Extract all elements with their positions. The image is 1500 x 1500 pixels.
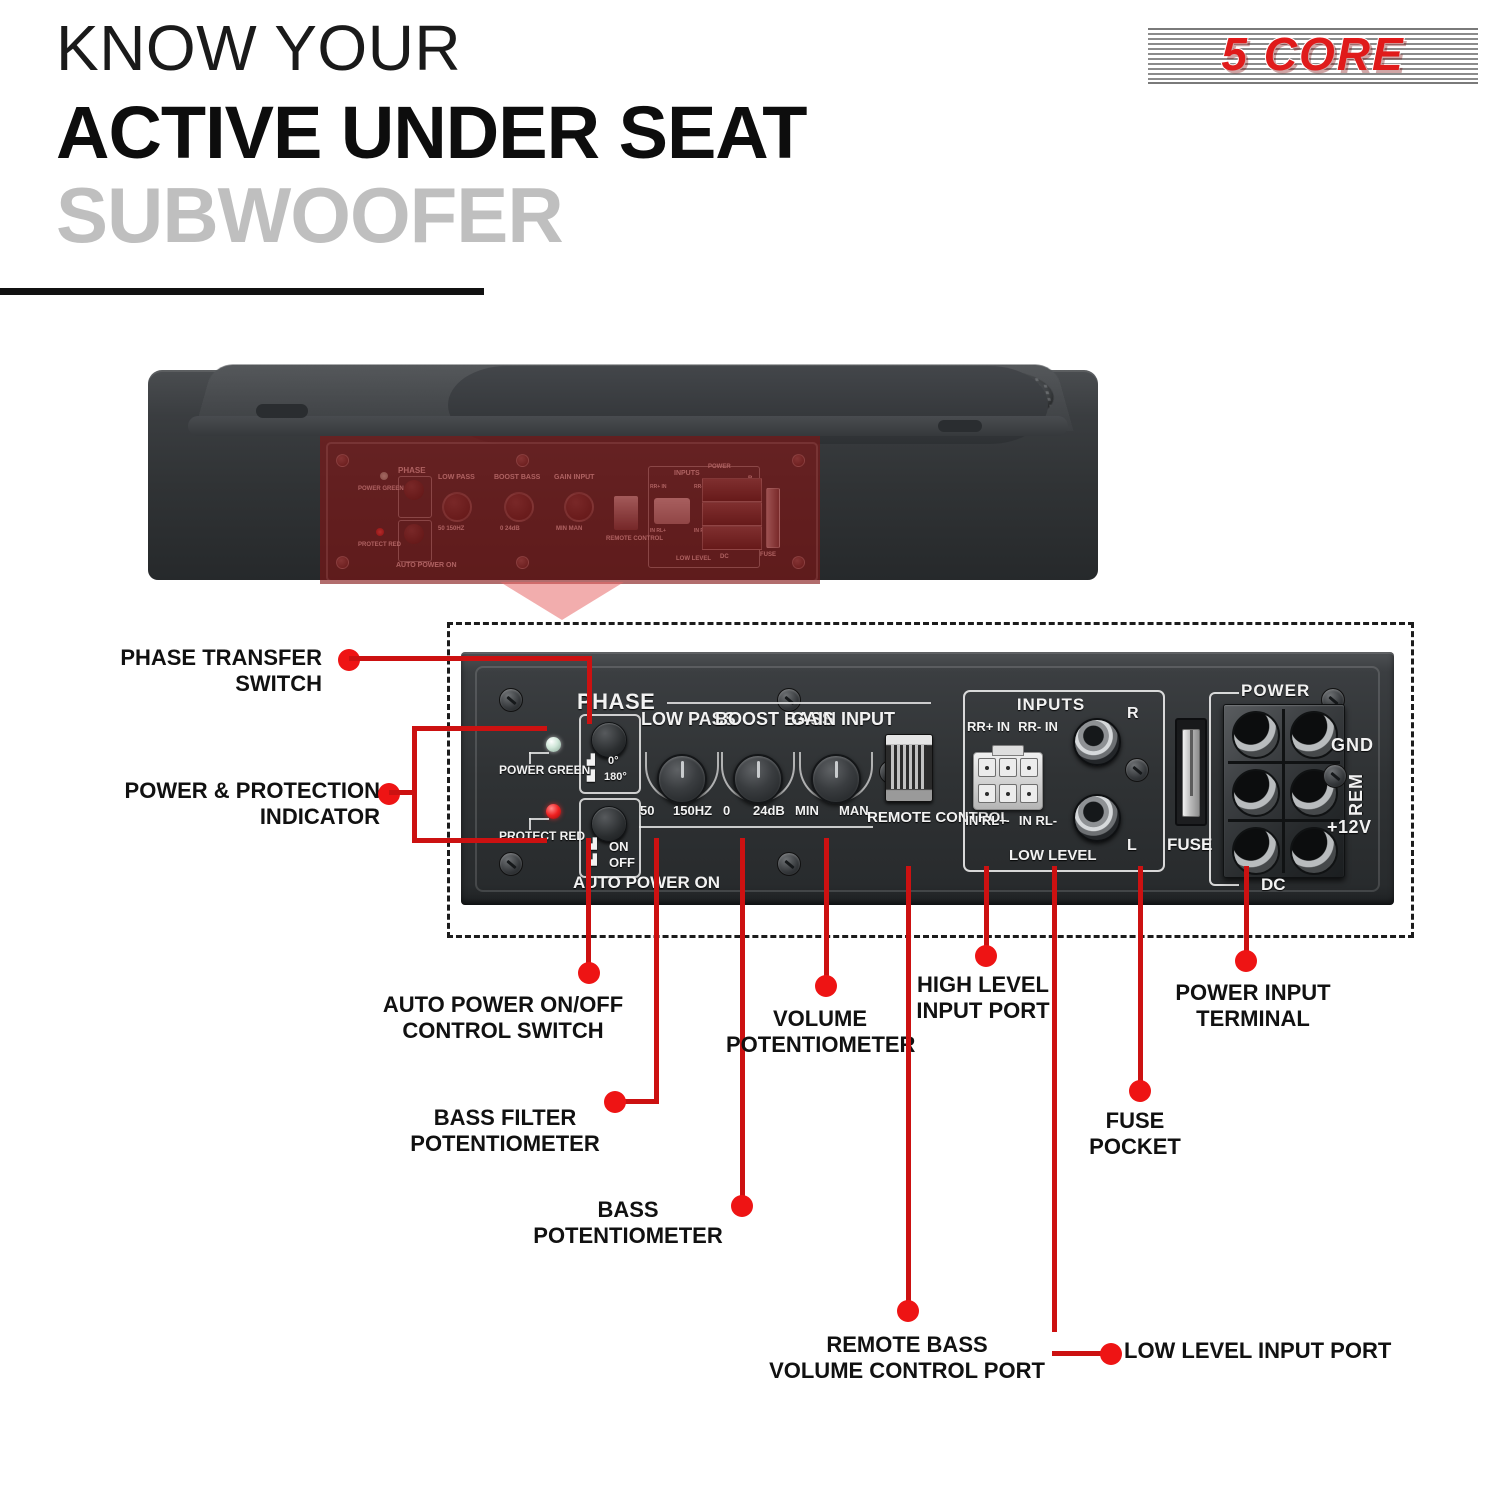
enclosure-lip	[188, 416, 1068, 436]
plus12v-label: +12V	[1327, 818, 1372, 837]
callout-line-pp-bracket	[412, 726, 417, 843]
molex-pin	[978, 758, 996, 777]
page-header: KNOW YOUR ACTIVE UNDER SEAT SUBWOOFER 5 …	[0, 0, 1500, 300]
callout-label-power-protection: POWER & PROTECTION INDICATOR	[40, 778, 380, 830]
panel-screw	[1125, 758, 1149, 782]
panel-screw	[499, 852, 523, 876]
low-pass-title: LOW PASS	[641, 710, 715, 729]
power-input-terminal[interactable]	[1223, 704, 1345, 878]
gain-min: MIN	[795, 804, 819, 818]
terminal-cell	[1232, 827, 1280, 875]
fuse-element	[1190, 730, 1193, 796]
molex-pin	[978, 784, 996, 803]
rem-label: REM	[1347, 773, 1366, 816]
callout-line-bassfilter-v	[654, 838, 659, 1104]
remote-bass-volume-control-port[interactable]	[885, 734, 933, 802]
terminal-divider-h	[1228, 819, 1340, 822]
callout-dot-volume	[815, 975, 837, 997]
highlight-arrow	[500, 582, 624, 620]
rem-screw	[1323, 764, 1347, 788]
title-line-1: KNOW YOUR	[56, 16, 461, 80]
callout-line-phase-h	[349, 656, 592, 661]
callout-dot-bass	[731, 1195, 753, 1217]
molex-pin	[999, 758, 1017, 777]
product-photo: POWER GREEN PROTECT RED PHASE AUTO POWER…	[148, 330, 1098, 592]
callout-line-fuse-v	[1138, 866, 1143, 1086]
rr-minus-in-label: RR- IN	[1017, 720, 1059, 734]
low-level-input-port-l[interactable]	[1073, 794, 1121, 842]
low-level-input-port-r[interactable]	[1073, 718, 1121, 766]
phase-option-0: 0°	[608, 756, 619, 768]
logo-text: 5 CORE	[1148, 20, 1478, 88]
gnd-label: GND	[1331, 736, 1374, 755]
callout-dot-fuse	[1129, 1080, 1151, 1102]
dc-label: DC	[1261, 876, 1286, 894]
molex-pin	[1020, 784, 1038, 803]
terminal-divider-h	[1228, 761, 1340, 764]
switch-glyph-up-icon: ▟	[587, 756, 595, 767]
led-leader-a	[529, 752, 549, 754]
boost-bass-max: 24dB	[753, 804, 785, 818]
callout-line-powerinput-v	[1244, 866, 1249, 962]
auto-power-on-label: AUTO POWER ON	[573, 874, 720, 892]
phase-option-180: 180°	[604, 772, 627, 784]
callout-line-phase-v	[587, 656, 592, 724]
callout-line-lowlevel-v	[1052, 866, 1057, 1332]
molex-pin	[999, 784, 1017, 803]
callout-dot-power-input	[1235, 950, 1257, 972]
brand-logo: 5 CORE	[1148, 20, 1478, 88]
switch-glyph-down-icon: ▟	[587, 772, 595, 783]
gain-max: MAN	[839, 804, 869, 818]
terminal-cell	[1232, 769, 1280, 817]
high-level-input-port[interactable]	[973, 752, 1043, 810]
highlight-overlay	[320, 436, 820, 584]
title-line-3: SUBWOOFER	[56, 176, 563, 254]
callout-label-low-level: LOW LEVEL INPUT PORT	[1124, 1338, 1454, 1364]
callout-line-volume-v	[824, 838, 829, 980]
callout-dot-low-level	[1100, 1343, 1122, 1365]
protect-red-led	[546, 804, 561, 819]
phase-rule	[667, 702, 931, 704]
terminal-cell	[1232, 711, 1280, 759]
panel-screw	[777, 852, 801, 876]
low-pass-min: 50	[640, 804, 654, 818]
callout-label-bass: BASS POTENTIOMETER	[528, 1197, 728, 1249]
auto-off-label: OFF	[609, 856, 635, 870]
phase-transfer-switch[interactable]	[591, 722, 627, 758]
callout-line-pp-bottom	[412, 838, 547, 843]
rr-plus-in-label: RR+ IN	[967, 720, 1009, 734]
callout-label-high-level: HIGH LEVEL INPUT PORT	[908, 972, 1058, 1024]
callout-label-volume: VOLUME POTENTIOMETER	[726, 1006, 914, 1058]
inputs-title: INPUTS	[991, 696, 1111, 714]
power-green-label: POWER GREEN	[499, 764, 569, 777]
mount-notch-right	[938, 420, 982, 432]
in-rl-plus-label: IN RL+	[965, 814, 1007, 828]
volume-potentiometer[interactable]	[811, 754, 861, 804]
callout-dot-high-level	[975, 945, 997, 967]
callout-line-remote-v	[906, 866, 911, 1306]
callout-line-auto-v	[586, 838, 591, 968]
callout-label-fuse: FUSE POCKET	[1060, 1108, 1210, 1160]
rca-l-label: L	[1127, 838, 1137, 855]
remote-control-label: REMOTE CONTROL	[867, 810, 951, 826]
amplifier-panel: POWER GREEN PROTECT RED PHASE 0° 180° ▟ …	[461, 652, 1394, 905]
callout-label-auto-power: AUTO POWER ON/OFF CONTROL SWITCH	[358, 992, 648, 1044]
auto-on-label: ON	[609, 840, 629, 854]
remote-port-contacts	[891, 745, 927, 789]
power-label: POWER	[1241, 682, 1310, 700]
panel-screw	[499, 688, 523, 712]
knob-rule-bottom	[639, 826, 873, 828]
title-line-2: ACTIVE UNDER SEAT	[56, 96, 806, 170]
boost-bass-min: 0	[723, 804, 730, 818]
bass-potentiometer[interactable]	[733, 754, 783, 804]
power-green-led	[546, 737, 561, 752]
boost-bass-title: BOOST BASS	[715, 710, 795, 729]
fuse-pocket[interactable]	[1175, 718, 1207, 826]
terminal-divider-v	[1282, 709, 1285, 873]
callout-label-phase-transfer-switch: PHASE TRANSFER SWITCH	[60, 645, 322, 697]
mount-notch-left	[256, 404, 308, 418]
led-leader-c	[529, 818, 549, 820]
callout-label-bass-filter: BASS FILTER POTENTIOMETER	[395, 1105, 615, 1157]
in-rl-minus-label: IN RL-	[1017, 814, 1059, 828]
low-pass-max: 150HZ	[673, 804, 712, 818]
molex-latch-tab	[992, 745, 1024, 756]
molex-pin	[1020, 758, 1038, 777]
title-underline	[0, 288, 484, 295]
callout-label-remote-bass: REMOTE BASS VOLUME CONTROL PORT	[752, 1332, 1062, 1384]
bass-filter-potentiometer[interactable]	[657, 754, 707, 804]
callout-dot-remote-bass	[897, 1300, 919, 1322]
low-level-label: LOW LEVEL	[1009, 848, 1097, 864]
rca-r-label: R	[1127, 706, 1139, 723]
auto-power-on-off-switch[interactable]	[591, 806, 627, 842]
callout-label-power-input: POWER INPUT TERMINAL	[1138, 980, 1368, 1032]
gain-input-title: GAIN INPUT	[791, 710, 873, 729]
callout-dot-auto-power	[578, 962, 600, 984]
fuse-label: FUSE	[1167, 836, 1212, 854]
callout-line-pp-top	[412, 726, 547, 731]
